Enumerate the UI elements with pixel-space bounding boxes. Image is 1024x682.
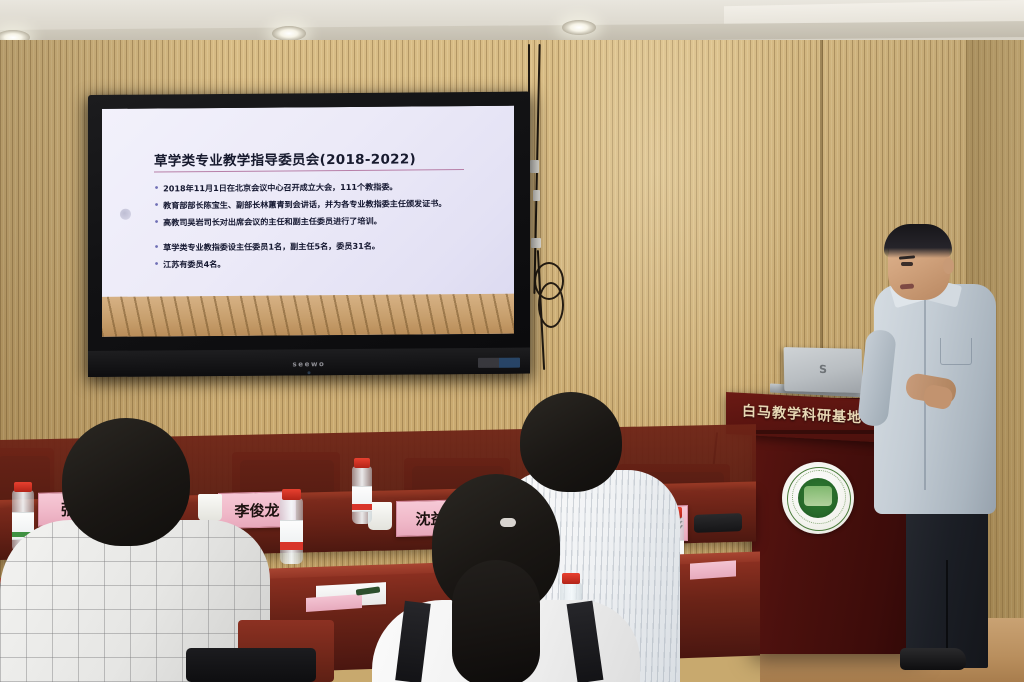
bullet-dot-icon: • xyxy=(154,242,159,254)
display-sticker xyxy=(478,358,520,368)
wall-outlet-box xyxy=(533,190,540,201)
paper-cup xyxy=(198,494,222,521)
bottle-cap xyxy=(282,489,301,500)
slide-bullet: • 2018年11月1日在北京会议中心召开成立大会，111个教指委。 xyxy=(154,180,484,195)
bullet-dot-icon: • xyxy=(154,199,159,211)
presenter-ear xyxy=(943,258,954,274)
name-card-text: 李俊龙 xyxy=(234,499,279,521)
presenter-mouth xyxy=(900,284,914,290)
slide-bullet-text: 教育部部长陈宝生、副部长林蕙青到会讲话，并为各专业教指委主任颁发证书。 xyxy=(163,197,484,212)
slide-bullet: • 江苏有委员4名。 xyxy=(154,256,484,271)
ceiling-downlight xyxy=(272,26,306,41)
presentation-slide: 草学类专业教学指导委员会(2018-2022) • 2018年11月1日在北京会… xyxy=(102,106,514,337)
paper-sheet-pink xyxy=(690,560,736,579)
slide-bullet-text: 2018年11月1日在北京会议中心召开成立大会，111个教指委。 xyxy=(163,180,484,195)
slide-bullet-text: 草学类专业教指委设主任委员1名，副主任5名，委员31名。 xyxy=(163,239,484,254)
bottle-cap xyxy=(354,458,370,468)
university-emblem xyxy=(782,462,854,534)
presenter-eye xyxy=(901,262,913,266)
bullet-dot-icon: • xyxy=(154,182,159,194)
audience-head xyxy=(62,418,190,546)
chair-seat xyxy=(186,648,316,682)
slide-bullet-text: 江苏有委员4名。 xyxy=(163,256,484,271)
slide-bullet-list: • 2018年11月1日在北京会议中心召开成立大会，111个教指委。 • 教育部… xyxy=(154,180,484,276)
ceiling-downlight xyxy=(562,20,596,35)
slide-title: 草学类专业教学指导委员会(2018-2022) xyxy=(154,147,416,169)
bullet-dot-icon: • xyxy=(154,216,159,228)
display-brand-label: seewo xyxy=(293,360,326,368)
audience-ponytail xyxy=(452,560,540,682)
bottle-cap xyxy=(562,573,580,584)
slide-bullet: • 草学类专业教指委设主任委员1名，副主任5名，委员31名。 xyxy=(154,239,484,254)
conference-room-photo: 草学类专业教学指导委员会(2018-2022) • 2018年11月1日在北京会… xyxy=(0,0,1024,682)
hair-tie xyxy=(500,518,516,527)
slide-bottom-photo xyxy=(102,294,514,337)
bottle-cap xyxy=(14,482,32,492)
slide-title-rule xyxy=(154,169,464,172)
laptop-logo-icon: S xyxy=(818,364,828,376)
presenter-shoe xyxy=(900,648,966,670)
slide-bullet-text: 高教司吴岩司长对出席会议的主任和副主任委员进行了培训。 xyxy=(163,214,484,229)
screen-sensor-dot xyxy=(120,209,131,220)
interactive-display[interactable]: 草学类专业教学指导委员会(2018-2022) • 2018年11月1日在北京会… xyxy=(88,92,530,377)
display-screen[interactable]: 草学类专业教学指导委员会(2018-2022) • 2018年11月1日在北京会… xyxy=(102,106,514,337)
presenter-shirt-pocket xyxy=(940,338,972,365)
emblem-inner-graphic xyxy=(804,486,832,506)
bullet-dot-icon: • xyxy=(154,259,159,271)
presenter-hair xyxy=(884,224,952,258)
display-power-led xyxy=(308,371,311,374)
slide-bullet: • 教育部部长陈宝生、副部长林蕙青到会讲话，并为各专业教指委主任颁发证书。 xyxy=(154,197,484,212)
bottle-label-accent xyxy=(280,542,303,550)
slide-bullet: • 高教司吴岩司长对出席会议的主任和副主任委员进行了培训。 xyxy=(154,214,484,229)
bottle-label-accent xyxy=(352,504,372,510)
laptop[interactable]: S xyxy=(784,347,863,393)
audience-head xyxy=(520,392,622,492)
electronic-device xyxy=(694,513,742,533)
